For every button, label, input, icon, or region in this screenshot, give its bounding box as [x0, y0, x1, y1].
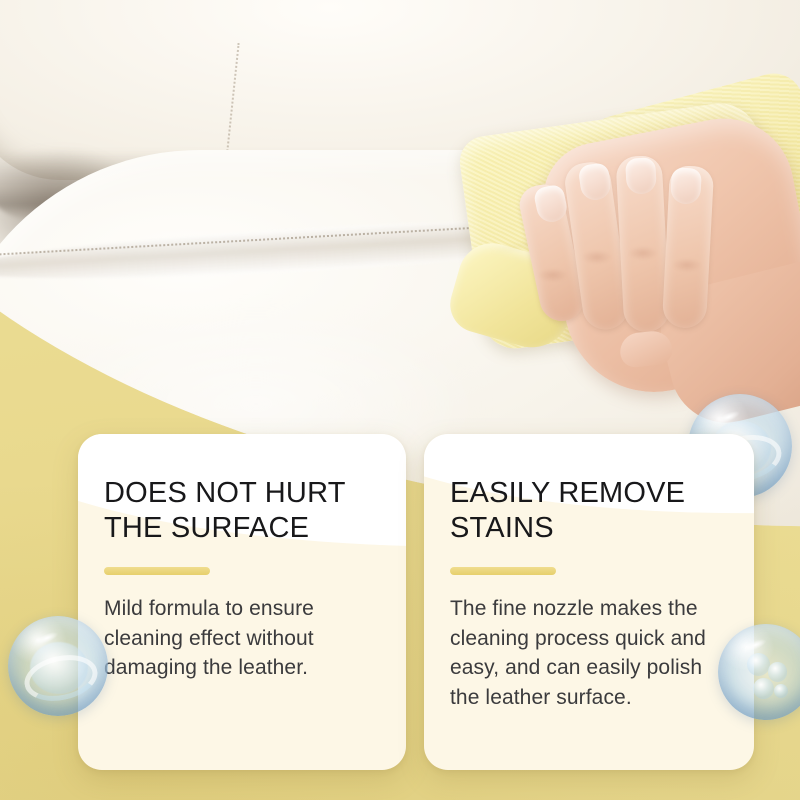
accent-divider-bar: [450, 567, 556, 575]
card-title: DOES NOT HURT THE SURFACE: [104, 476, 380, 546]
feature-card-easily-remove-stains[interactable]: EASILY REMOVE STAINS The fine nozzle mak…: [424, 434, 754, 770]
product-feature-banner: DOES NOT HURT THE SURFACE Mild formula t…: [0, 0, 800, 800]
bubble-droplet: [753, 678, 774, 699]
bubble-droplet: [747, 653, 770, 676]
card-title: EASILY REMOVE STAINS: [450, 476, 728, 546]
card-body-text: The fine nozzle makes the cleaning proce…: [450, 594, 728, 712]
card-body-text: Mild formula to ensure cleaning effect w…: [104, 594, 380, 683]
bubble-droplet: [774, 684, 788, 698]
water-bubble-bottom-left-icon: [8, 616, 108, 716]
accent-divider-bar: [104, 567, 210, 575]
bubble-droplet: [768, 662, 787, 681]
feature-card-does-not-hurt-the-surface[interactable]: DOES NOT HURT THE SURFACE Mild formula t…: [78, 434, 406, 770]
